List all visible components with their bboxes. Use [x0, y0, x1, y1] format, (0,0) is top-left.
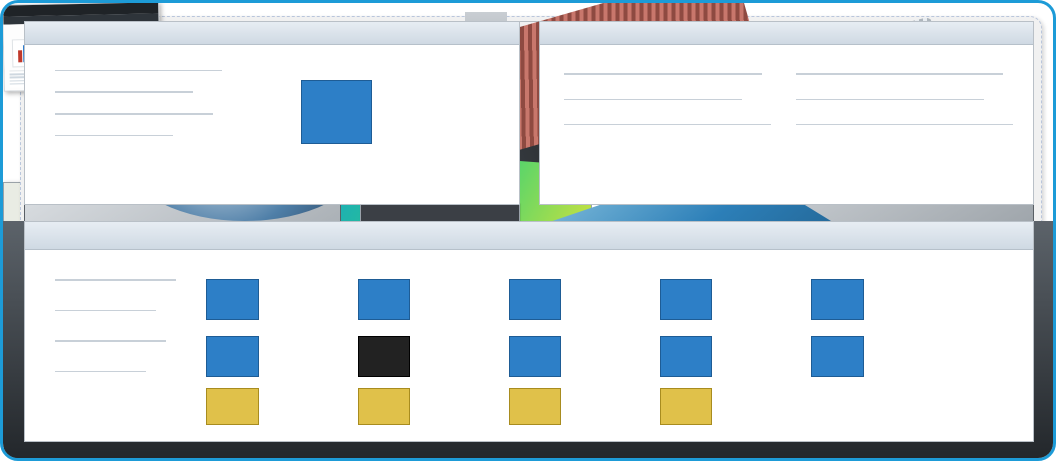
plm-data-management-screenshot: [3, 3, 1053, 458]
slide-root: 開放 | 連線 | 專業級 – 資料、人員與程序: [0, 0, 1056, 461]
